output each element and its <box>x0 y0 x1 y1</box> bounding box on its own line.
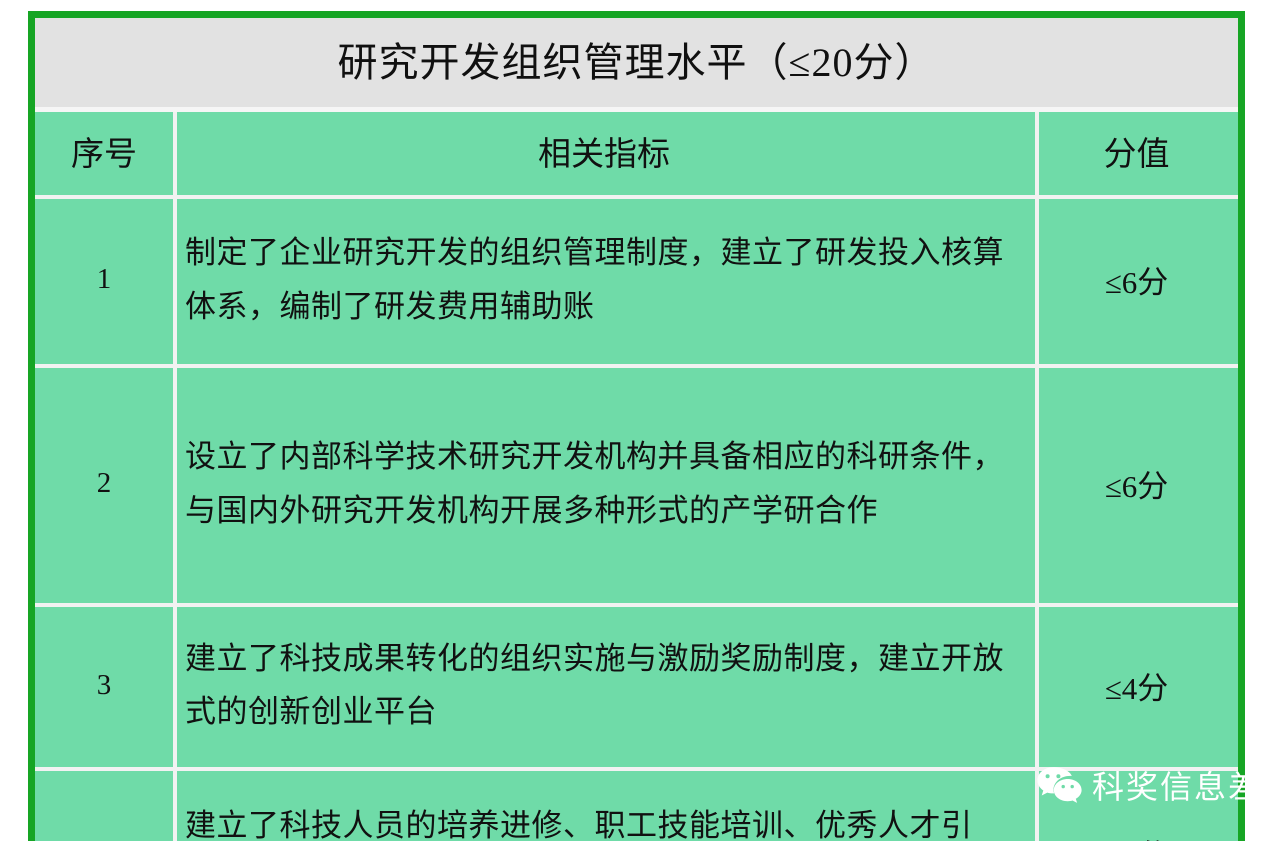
table-header-row: 序号 相关指标 分值 <box>35 107 1238 195</box>
column-header-no: 序号 <box>35 107 173 195</box>
table-row: 2 设立了内部科学技术研究开发机构并具备相应的科研条件，与国内外研究开发机构开展… <box>35 364 1238 603</box>
column-header-indicator: 相关指标 <box>173 107 1035 195</box>
scoring-table: 研究开发组织管理水平（≤20分） 序号 相关指标 分值 1 制定了企业研究开发的… <box>28 11 1245 841</box>
table-title: 研究开发组织管理水平（≤20分） <box>35 18 1238 107</box>
row-number: 2 <box>35 364 173 603</box>
row-indicator: 设立了内部科学技术研究开发机构并具备相应的科研条件，与国内外研究开发机构开展多种… <box>173 364 1035 603</box>
row-number: 1 <box>35 195 173 364</box>
row-score: ≤6分 <box>1035 195 1238 364</box>
page-root: 研究开发组织管理水平（≤20分） 序号 相关指标 分值 1 制定了企业研究开发的… <box>0 0 1280 836</box>
table-row: 4 建立了科技人员的培养进修、职工技能培训、优秀人才引进，以及人才绩效评价奖励制… <box>35 767 1238 841</box>
row-indicator: 制定了企业研究开发的组织管理制度，建立了研发投入核算体系，编制了研发费用辅助账 <box>173 195 1035 364</box>
table-title-row: 研究开发组织管理水平（≤20分） <box>35 18 1238 107</box>
row-score: ≤6分 <box>1035 364 1238 603</box>
row-number: 4 <box>35 767 173 841</box>
row-score: ≤4分 <box>1035 767 1238 841</box>
column-header-score: 分值 <box>1035 107 1238 195</box>
row-number: 3 <box>35 603 173 767</box>
table-row: 3 建立了科技成果转化的组织实施与激励奖励制度，建立开放式的创新创业平台 ≤4分 <box>35 603 1238 767</box>
row-score: ≤4分 <box>1035 603 1238 767</box>
scoring-table-grid: 研究开发组织管理水平（≤20分） 序号 相关指标 分值 1 制定了企业研究开发的… <box>35 18 1238 841</box>
table-row: 1 制定了企业研究开发的组织管理制度，建立了研发投入核算体系，编制了研发费用辅助… <box>35 195 1238 364</box>
row-indicator: 建立了科技成果转化的组织实施与激励奖励制度，建立开放式的创新创业平台 <box>173 603 1035 767</box>
row-indicator: 建立了科技人员的培养进修、职工技能培训、优秀人才引进，以及人才绩效评价奖励制度 <box>173 767 1035 841</box>
